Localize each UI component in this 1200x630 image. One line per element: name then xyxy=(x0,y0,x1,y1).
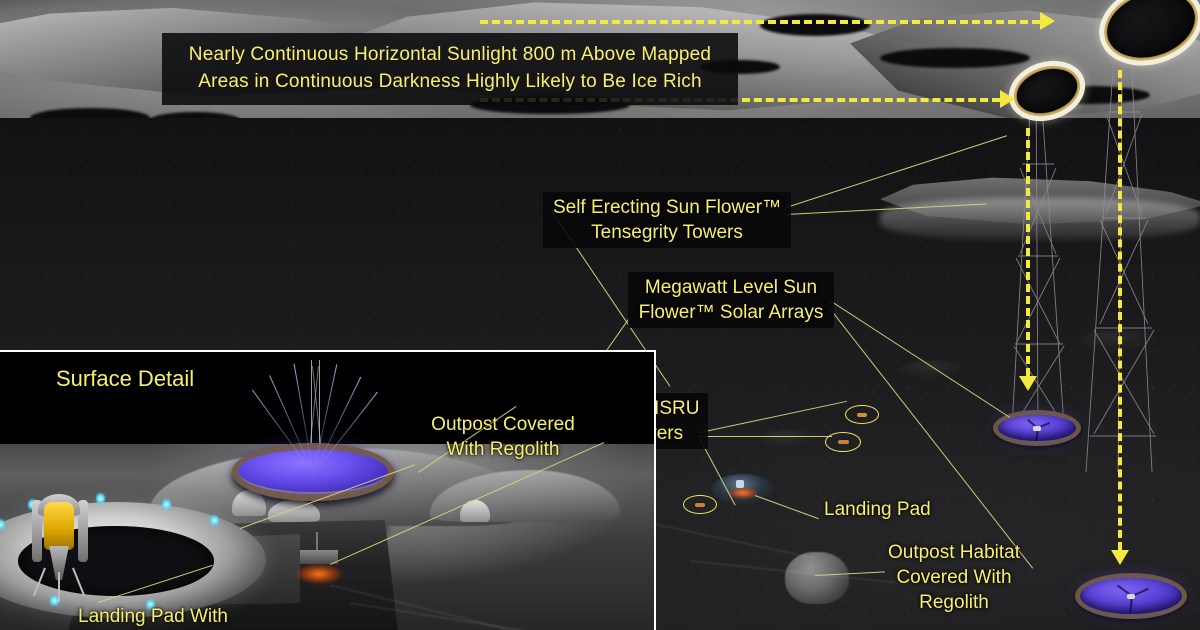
outpost-habitat-mound xyxy=(785,552,849,604)
arrow-down-icon xyxy=(1111,550,1129,565)
lunar-lander xyxy=(22,494,96,606)
isru-rover xyxy=(838,440,849,444)
power-arrow-near xyxy=(1026,128,1030,376)
main-caption: Nearly Continuous Horizontal Sunlight 80… xyxy=(162,33,738,105)
inset-title: Surface Detail xyxy=(56,366,194,391)
rover-mast xyxy=(316,532,318,552)
isru-rover xyxy=(857,413,867,417)
rover-heat-glow xyxy=(296,564,342,584)
lander-leg xyxy=(72,568,85,597)
lander-fuel-tank xyxy=(44,502,74,550)
leader-line-rover-b xyxy=(700,436,832,437)
pad-light xyxy=(210,514,219,527)
small-crater xyxy=(760,430,820,448)
arrow-right-icon xyxy=(1000,90,1015,108)
lander-leg xyxy=(33,568,46,597)
pad-thermal-glow xyxy=(728,487,758,499)
label-landing-pad: Landing Pad xyxy=(824,497,931,522)
label-solar-arrays: Megawatt Level Sun Flower™ Solar Arrays xyxy=(628,272,834,328)
lander-leg xyxy=(58,572,60,602)
pad-light xyxy=(96,492,105,505)
solar-array-lower xyxy=(1080,578,1182,614)
pad-marker xyxy=(736,480,744,488)
lunar-outpost-illustration: Nearly Continuous Horizontal Sunlight 80… xyxy=(0,0,1200,630)
array-hub xyxy=(1033,426,1041,431)
label-outpost-covered: Outpost Covered With Regolith xyxy=(418,412,588,462)
power-arrow-far xyxy=(1118,70,1122,550)
pad-light xyxy=(162,498,171,511)
arrow-right-icon xyxy=(1040,12,1055,30)
label-landing-pad-with: Landing Pad With xyxy=(78,604,228,629)
label-outpost-habitat: Outpost Habitat Covered With Regolith xyxy=(874,540,1034,615)
label-tensegrity-towers: Self Erecting Sun Flower™ Tensegrity Tow… xyxy=(543,192,791,248)
rover-callout-ellipse xyxy=(825,432,861,452)
rover-callout-ellipse xyxy=(845,405,879,424)
rover-callout-ellipse xyxy=(683,495,717,514)
arrow-down-icon xyxy=(1019,376,1037,391)
surface-detail-inset: Surface Detail Outpost Covered With Rego… xyxy=(0,350,656,630)
shadow-patch xyxy=(880,48,1030,68)
array-hub xyxy=(1127,594,1135,599)
sunlight-arrow-upper xyxy=(480,20,1040,24)
solar-array-upper xyxy=(998,415,1076,441)
isru-rover xyxy=(695,503,705,507)
shadow-patch xyxy=(760,14,870,36)
